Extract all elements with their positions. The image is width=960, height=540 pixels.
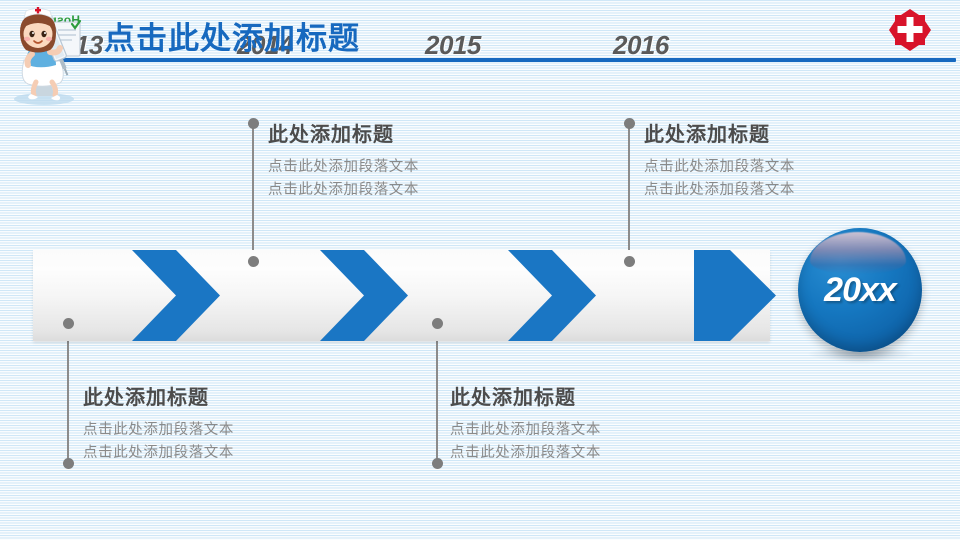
connector-dot-bottom-1-start <box>63 318 74 329</box>
connector-dot-top-2-start <box>624 118 635 129</box>
timeline-arrowhead-icon <box>694 250 786 341</box>
callout-body-line-1: 点击此处添加段落文本 <box>644 156 795 179</box>
callout-body-line-1: 点击此处添加段落文本 <box>83 419 234 442</box>
red-cross-icon <box>888 8 932 52</box>
header-divider <box>58 58 956 62</box>
callout-body-line-2: 点击此处添加段落文本 <box>83 442 234 465</box>
connector-dot-top-1-end <box>248 256 259 267</box>
timeline-end-marker[interactable]: 20xx <box>796 228 928 364</box>
callout-bottom-2[interactable]: 此处添加标题 点击此处添加段落文本 点击此处添加段落文本 <box>450 381 601 466</box>
connector-dot-top-1-start <box>248 118 259 129</box>
callout-body-line-1: 点击此处添加段落文本 <box>450 419 601 442</box>
connector-line-top-2 <box>628 128 630 263</box>
callout-title: 此处添加标题 <box>83 381 234 410</box>
callout-body-line-2: 点击此处添加段落文本 <box>268 179 419 202</box>
callout-top-1[interactable]: 此处添加标题 点击此处添加段落文本 点击此处添加段落文本 <box>268 118 419 203</box>
connector-line-top-1 <box>252 128 254 263</box>
connector-line-bottom-1 <box>67 326 69 463</box>
page-title: 点击此处添加标题 <box>104 13 360 58</box>
nurse-mascot-icon: Hospital <box>2 0 106 108</box>
connector-dot-bottom-1-end <box>63 458 74 469</box>
chevron-separator-icon-2 <box>318 250 424 341</box>
callout-body-line-2: 点击此处添加段落文本 <box>644 179 795 202</box>
connector-dot-bottom-2-start <box>432 318 443 329</box>
timeline-year-2016: 2016 <box>613 30 669 61</box>
callout-title: 此处添加标题 <box>644 118 795 147</box>
callout-title: 此处添加标题 <box>268 118 419 147</box>
chevron-separator-icon-3 <box>506 250 612 341</box>
slide-canvas: Hospital <box>0 0 960 540</box>
connector-line-bottom-2 <box>436 326 438 463</box>
callout-title: 此处添加标题 <box>450 381 601 410</box>
callout-body-line-2: 点击此处添加段落文本 <box>450 442 601 465</box>
timeline-end-label: 20xx <box>796 228 924 352</box>
connector-dot-bottom-2-end <box>432 458 443 469</box>
callout-body-line-1: 点击此处添加段落文本 <box>268 156 419 179</box>
callout-bottom-1[interactable]: 此处添加标题 点击此处添加段落文本 点击此处添加段落文本 <box>83 381 234 466</box>
chevron-separator-icon-1 <box>130 250 236 341</box>
timeline-year-2015: 2015 <box>425 30 481 61</box>
connector-dot-top-2-end <box>624 256 635 267</box>
callout-top-2[interactable]: 此处添加标题 点击此处添加段落文本 点击此处添加段落文本 <box>644 118 795 203</box>
